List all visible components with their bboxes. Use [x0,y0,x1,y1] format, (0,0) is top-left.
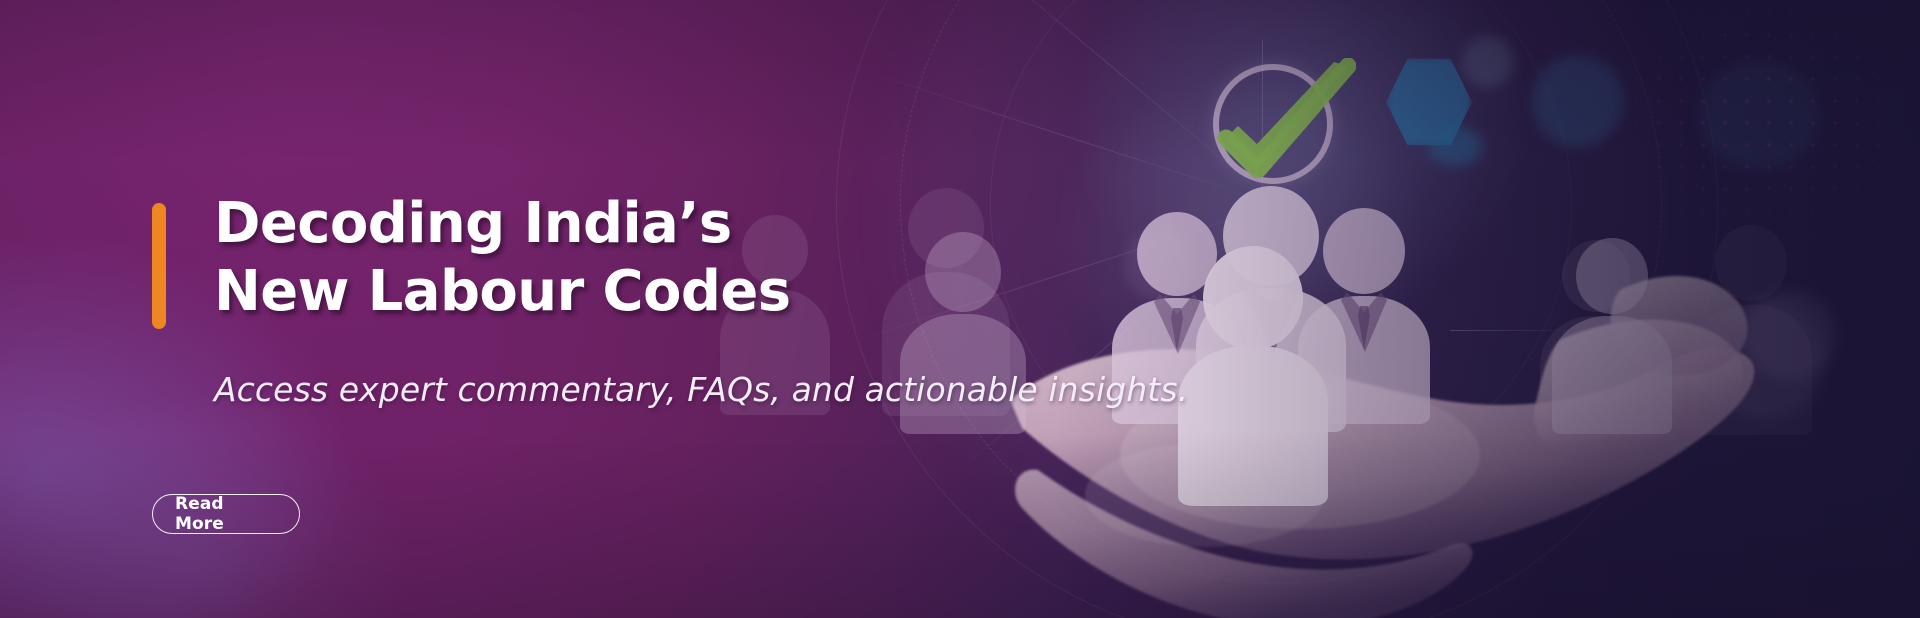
page-title: Decoding India’s New Labour Codes [214,190,790,326]
check-mark-icon [1216,58,1356,178]
headline-line-2: New Labour Codes [214,258,790,326]
bokeh-circle-icon [1427,126,1483,166]
promo-banner: Decoding India’s New Labour Codes Access… [0,0,1920,618]
bokeh-circle-icon [1532,55,1624,147]
accent-bar [152,203,166,329]
person-icon [1552,238,1672,434]
bokeh-circle-icon [1462,36,1514,88]
headline-line-1: Decoding India’s [214,190,790,258]
subheadline: Access expert commentary, FAQs, and acti… [214,370,1188,410]
read-more-button[interactable]: Read More [152,494,300,534]
bokeh-circle-icon [1700,60,1820,170]
person-icon [1178,246,1328,438]
